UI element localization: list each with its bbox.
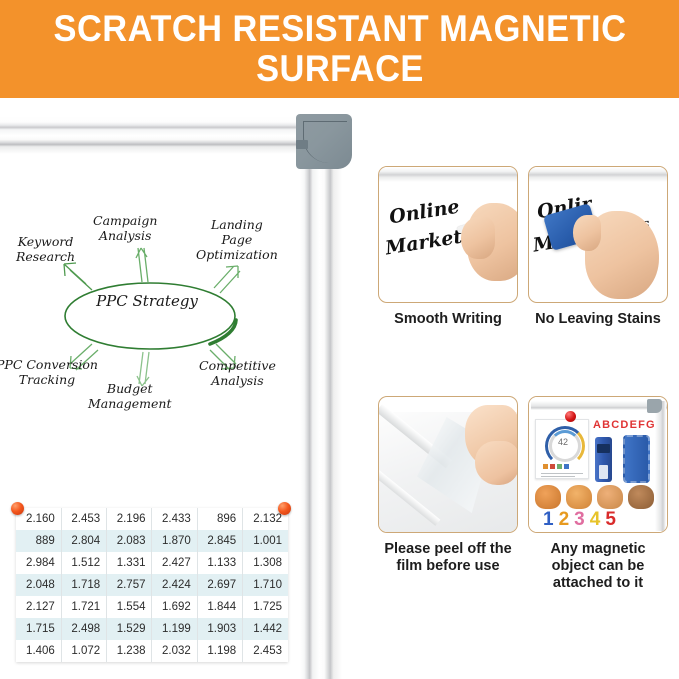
table-cell: 1.238	[107, 640, 152, 662]
panel-no-leaving-stains: Onlir M s No Leaving Stains	[528, 166, 668, 328]
diagram-node-campaign-analysis: Campaign Analysis	[93, 214, 157, 244]
animal-magnet	[597, 485, 623, 509]
table-row: 2.1271.7211.5541.6921.8441.725	[16, 596, 288, 618]
whiteboard-illustration: PPC Strategy Keyword Research Campaign A…	[0, 98, 368, 679]
banner-title: SCRATCH RESISTANT MAGNETICSURFACE	[40, 9, 639, 89]
hand-fingers	[475, 441, 518, 485]
header-banner: SCRATCH RESISTANT MAGNETICSURFACE	[0, 0, 679, 98]
table-cell: 2.453	[243, 640, 288, 662]
table-cell: 1.331	[107, 552, 152, 574]
table-cell: 2.804	[61, 530, 106, 552]
panel-caption: No Leaving Stains	[528, 311, 668, 328]
table-cell: 2.427	[152, 552, 197, 574]
table-cell: 2.048	[16, 574, 61, 596]
hand-thumb	[573, 215, 601, 251]
table-cell: 2.697	[197, 574, 242, 596]
table-cell: 1.529	[107, 618, 152, 640]
panel-caption: Smooth Writing	[378, 311, 518, 328]
panel-caption: Please peel off the film before use	[378, 541, 518, 575]
magnet-dot-top-left	[11, 502, 24, 515]
table-cell: 1.870	[152, 530, 197, 552]
poster-swatches	[543, 464, 569, 469]
mini-whiteboard: 42 ABCDEFG	[529, 397, 668, 533]
diagram-node-ppc-conversion-tracking: PPC Conversion Tracking	[0, 358, 98, 388]
panel-smooth-writing: Online Marketi Smooth Writing	[378, 166, 518, 328]
ppc-strategy-diagram: PPC Strategy Keyword Research Campaign A…	[0, 192, 302, 442]
magnet-dot-top-right	[278, 502, 291, 515]
feature-panel-grid: Online Marketi Smooth Writing Onlir M s …	[368, 98, 679, 679]
marker-magnet	[595, 437, 612, 482]
table-cell: 2.757	[107, 574, 152, 596]
table-cell: 2.433	[152, 508, 197, 530]
whiteboard-surface: PPC Strategy Keyword Research Campaign A…	[0, 156, 302, 679]
whiteboard-corner-bracket	[296, 114, 352, 169]
table-cell: 1.554	[107, 596, 152, 618]
table-row: 8892.8042.0831.8702.8451.001	[16, 530, 288, 552]
table-cell: 2.032	[152, 640, 197, 662]
diagram-node-landing-page-optimization: Landing Page Optimization	[196, 218, 278, 262]
table-cell: 1.442	[243, 618, 288, 640]
table-cell: 1.844	[197, 596, 242, 618]
mini-board-corner-bracket	[647, 399, 662, 413]
table-cell: 1.406	[16, 640, 61, 662]
poster-magnet: 42	[535, 419, 589, 479]
diagram-center-label: PPC Strategy	[72, 292, 222, 310]
table-cell: 2.083	[107, 530, 152, 552]
panel-image-smooth-writing: Online Marketi	[378, 166, 518, 303]
number-magnets: 12345	[543, 509, 653, 531]
number-magnet: 2	[559, 509, 570, 531]
table-cell: 1.308	[243, 552, 288, 574]
number-magnet: 1	[543, 509, 554, 531]
panel-image-magnetic-attach: 42 ABCDEFG	[528, 396, 668, 533]
table-row: 2.1602.4532.1962.4338962.132	[16, 508, 288, 530]
table-cell: 2.498	[61, 618, 106, 640]
table-body: 2.1602.4532.1962.4338962.1328892.8042.08…	[16, 508, 288, 662]
table-row: 1.4061.0721.2382.0321.1982.453	[16, 640, 288, 662]
table-cell: 1.199	[152, 618, 197, 640]
eraser-magnet	[623, 435, 650, 483]
table-cell: 1.692	[152, 596, 197, 618]
panel-frame-strip	[379, 167, 517, 182]
numbers-grid: 2.1602.4532.1962.4338962.1328892.8042.08…	[16, 508, 288, 662]
panel-image-no-leaving-stains: Onlir M s	[528, 166, 668, 303]
table-cell: 1.710	[243, 574, 288, 596]
table-cell: 1.512	[61, 552, 106, 574]
animal-magnet	[566, 485, 592, 509]
animal-magnets	[535, 485, 657, 509]
table-cell: 889	[16, 530, 61, 552]
animal-magnet	[535, 485, 561, 509]
letter-magnets: ABCDEFG	[593, 419, 663, 431]
diagram-node-budget-management: Budget Management	[88, 382, 171, 412]
table-cell: 2.845	[197, 530, 242, 552]
table-cell: 2.127	[16, 596, 61, 618]
table-cell: 1.133	[197, 552, 242, 574]
diagram-node-competitive-analysis: Competitive Analysis	[199, 359, 276, 389]
table-cell: 2.424	[152, 574, 197, 596]
panel-frame-strip	[529, 167, 667, 182]
table-row: 1.7152.4981.5291.1991.9031.442	[16, 618, 288, 640]
table-cell: 2.984	[16, 552, 61, 574]
panel-peel-film: Please peel off the film before use	[378, 396, 518, 575]
poster-number: 42	[554, 437, 572, 447]
diagram-node-keyword-research: Keyword Research	[16, 235, 75, 265]
panel-image-peel-film	[378, 396, 518, 533]
number-magnet: 4	[590, 509, 601, 531]
table-cell: 1.725	[243, 596, 288, 618]
poster-text-lines	[541, 471, 583, 477]
animal-magnet	[628, 485, 654, 509]
table-cell: 896	[197, 508, 242, 530]
table-cell: 1.718	[61, 574, 106, 596]
panel-caption: Any magnetic object can be attached to i…	[528, 541, 668, 591]
table-cell: 2.453	[61, 508, 106, 530]
number-magnet: 3	[574, 509, 585, 531]
data-table: 2.1602.4532.1962.4338962.1328892.8042.08…	[16, 508, 288, 662]
number-magnet: 5	[605, 509, 616, 531]
red-magnet-dot	[565, 411, 576, 422]
hand-fingers	[461, 217, 495, 259]
table-cell: 1.001	[243, 530, 288, 552]
handwriting-line-1: Online	[388, 196, 461, 229]
table-cell: 1.715	[16, 618, 61, 640]
table-cell: 1.198	[197, 640, 242, 662]
table-row: 2.0481.7182.7572.4242.6971.710	[16, 574, 288, 596]
whiteboard-right-frame-rail	[300, 160, 342, 679]
table-row: 2.9841.5121.3312.4271.1331.308	[16, 552, 288, 574]
table-cell: 1.903	[197, 618, 242, 640]
table-cell: 1.721	[61, 596, 106, 618]
product-feature-image: SCRATCH RESISTANT MAGNETICSURFACE	[0, 0, 679, 679]
panel-magnetic-attach: 42 ABCDEFG	[528, 396, 668, 591]
table-cell: 2.196	[107, 508, 152, 530]
whiteboard-top-frame-rail	[0, 116, 316, 154]
table-cell: 1.072	[61, 640, 106, 662]
